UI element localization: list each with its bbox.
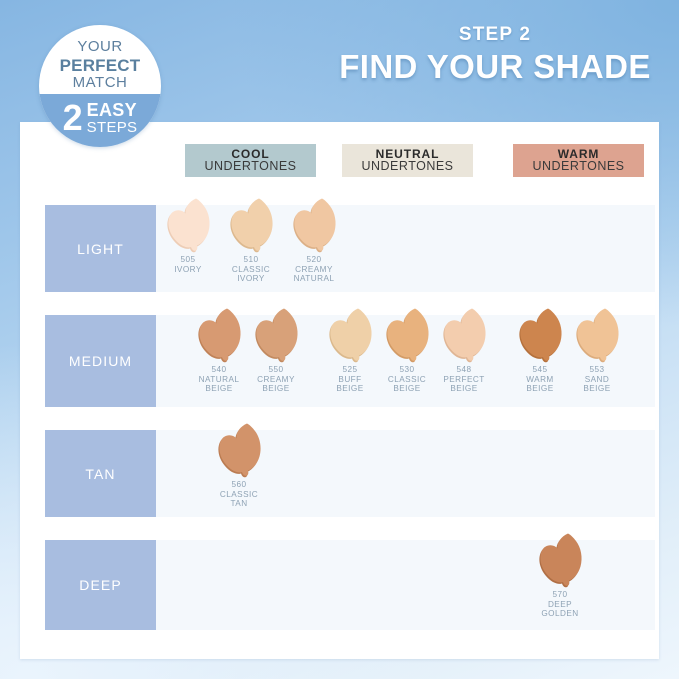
infographic-canvas: STEP 2 FIND YOUR SHADE YOUR PERFECT MATC… [0,0,679,679]
undertone-chip-cool: COOLUNDERTONES [185,144,316,177]
undertone-chip-neutral: NEUTRALUNDERTONES [342,144,473,177]
shade-code: 560 [220,480,258,490]
shade-row-deep: DEEP 570DEEPGOLDEN [20,540,659,630]
shade-code: 553 [583,365,610,375]
shade-chart-card: COOLUNDERTONESNEUTRALUNDERTONESWARMUNDER… [20,122,659,659]
foundation-swatch-icon [438,307,490,363]
shade-swatch-570[interactable]: 570DEEPGOLDEN [532,540,588,630]
foundation-swatch-icon [514,307,566,363]
step-label: STEP 2 [330,24,660,46]
shade-label: 540NATURALBEIGE [199,365,240,394]
foundation-swatch-icon [571,307,623,363]
page-title: FIND YOUR SHADE [330,48,660,86]
foundation-swatch-icon [288,197,340,253]
badge-top-text: YOUR PERFECT MATCH [39,39,161,92]
shade-swatch-560[interactable]: 560CLASSICTAN [211,430,267,517]
badge-bottom-text: 2 EASY STEPS [39,94,161,142]
shade-code: 510 [232,255,270,265]
foundation-swatch-icon [324,307,376,363]
shade-swatch-548[interactable]: 548PERFECTBEIGE [436,315,492,407]
shade-name-line2: BEIGE [388,384,426,394]
shade-name: CLASSIC [232,265,270,275]
foundation-swatch-icon [250,307,302,363]
shade-name-line2: BEIGE [583,384,610,394]
shade-name: CLASSIC [388,375,426,385]
shade-name: SAND [583,375,610,385]
foundation-swatch-icon [193,307,245,363]
row-label-light: LIGHT [45,205,156,292]
header-block: STEP 2 FIND YOUR SHADE [330,24,660,86]
shade-label: 570DEEPGOLDEN [541,590,578,619]
shade-name: CREAMY [294,265,335,275]
shade-name-line2: BEIGE [257,384,295,394]
row-label-deep: DEEP [45,540,156,630]
shade-row-light: LIGHT 505IVORY 510CLASSICIVORY 520CREAMY… [20,205,659,292]
shade-label: 548PERFECTBEIGE [443,365,484,394]
shade-name-line2: TAN [220,499,258,509]
badge-line-perfect: PERFECT [39,56,161,75]
shade-swatch-520[interactable]: 520CREAMYNATURAL [286,205,342,292]
shade-code: 520 [294,255,335,265]
shade-swatch-545[interactable]: 545WARMBEIGE [512,315,568,407]
shade-label: 520CREAMYNATURAL [294,255,335,284]
shade-label: 560CLASSICTAN [220,480,258,509]
foundation-swatch-icon [381,307,433,363]
shade-code: 548 [443,365,484,375]
foundation-swatch-icon [534,532,586,588]
shade-code: 505 [174,255,202,265]
shade-row-tan: TAN 560CLASSICTAN [20,430,659,517]
badge-easy-label: EASY [87,101,138,120]
shade-swatch-525[interactable]: 525BUFFBEIGE [322,315,378,407]
shade-name: CLASSIC [220,490,258,500]
badge-steps-label: STEPS [87,120,138,136]
shade-name: WARM [526,375,553,385]
foundation-swatch-icon [213,422,265,478]
undertone-chip-warm: WARMUNDERTONES [513,144,644,177]
shade-label: 510CLASSICIVORY [232,255,270,284]
shade-name-line2: BEIGE [443,384,484,394]
shade-code: 525 [336,365,363,375]
shade-label: 525BUFFBEIGE [336,365,363,394]
shade-code: 545 [526,365,553,375]
badge-line-match: MATCH [39,75,161,92]
undertone-sublabel: UNDERTONES [204,160,296,173]
row-label-tan: TAN [45,430,156,517]
shade-name-line2: IVORY [232,274,270,284]
shade-label: 550CREAMYBEIGE [257,365,295,394]
shade-name: CREAMY [257,375,295,385]
undertone-sublabel: UNDERTONES [532,160,624,173]
shade-swatch-553[interactable]: 553SANDBEIGE [569,315,625,407]
shade-swatch-530[interactable]: 530CLASSICBEIGE [379,315,435,407]
shade-code: 550 [257,365,295,375]
shade-swatch-540[interactable]: 540NATURALBEIGE [191,315,247,407]
shade-code: 570 [541,590,578,600]
shade-swatch-505[interactable]: 505IVORY [160,205,216,292]
shade-name-line2: BEIGE [336,384,363,394]
shade-swatch-550[interactable]: 550CREAMYBEIGE [248,315,304,407]
shade-row-medium: MEDIUM 540NATURALBEIGE 550CREAMYBEIGE 52… [20,315,659,407]
shade-label: 505IVORY [174,255,202,274]
badge-line-your: YOUR [39,39,161,56]
shade-name-line2: GOLDEN [541,609,578,619]
shade-code: 540 [199,365,240,375]
shade-name-line2: NATURAL [294,274,335,284]
shade-label: 545WARMBEIGE [526,365,553,394]
shade-name-line2: BEIGE [199,384,240,394]
shade-name: BUFF [336,375,363,385]
shade-name: NATURAL [199,375,240,385]
foundation-swatch-icon [162,197,214,253]
shade-swatch-510[interactable]: 510CLASSICIVORY [223,205,279,292]
perfect-match-badge: YOUR PERFECT MATCH 2 EASY STEPS [39,25,161,147]
shade-name: PERFECT [443,375,484,385]
badge-step-number: 2 [63,100,83,136]
shade-code: 530 [388,365,426,375]
row-label-medium: MEDIUM [45,315,156,407]
foundation-swatch-icon [225,197,277,253]
shade-label: 553SANDBEIGE [583,365,610,394]
shade-name: IVORY [174,265,202,275]
shade-name-line2: BEIGE [526,384,553,394]
shade-label: 530CLASSICBEIGE [388,365,426,394]
undertone-sublabel: UNDERTONES [361,160,453,173]
shade-name: DEEP [541,600,578,610]
